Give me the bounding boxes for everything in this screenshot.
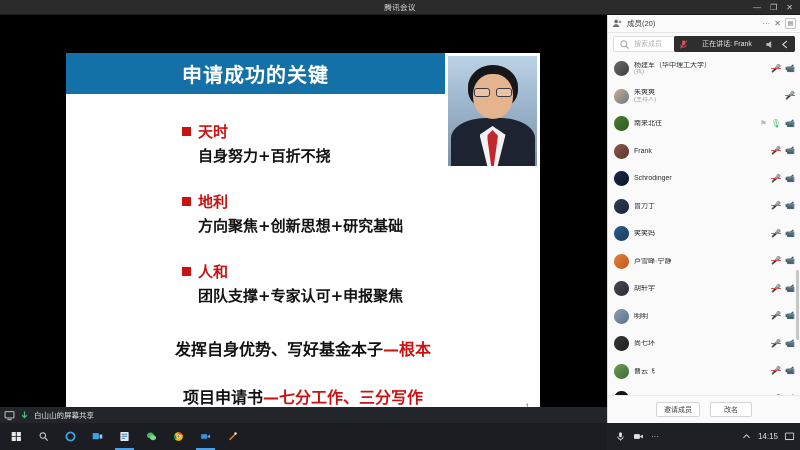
mic-muted-icon[interactable]: 🎤 xyxy=(771,65,781,73)
participant-name: 尚七环 xyxy=(634,340,766,347)
participant-status-icons: 🎤📹 xyxy=(771,312,795,320)
camera-off-icon[interactable]: 📹 xyxy=(785,257,795,265)
participants-count-label: 成员(20) xyxy=(627,18,655,29)
participant-row[interactable]: 曾力丁🎤📹 xyxy=(608,193,800,221)
maximize-button[interactable]: ❐ xyxy=(770,4,777,12)
camera-off-icon[interactable]: 📹 xyxy=(785,147,795,155)
window-title: 腾讯会议 xyxy=(384,2,416,13)
taskbar-clock[interactable]: 14:15 xyxy=(758,432,778,441)
bullet-key-1: 天时 xyxy=(198,121,228,142)
share-bar-label: 白山山的屏幕共享 xyxy=(34,410,94,421)
participant-status-icons: 🎤📹 xyxy=(771,175,795,183)
search-placeholder: 搜索成员 xyxy=(634,39,662,49)
cortana-button[interactable] xyxy=(57,423,84,450)
invite-members-button[interactable]: 邀请成员 xyxy=(656,402,700,417)
closing-2-black: 项目申请书 xyxy=(183,388,263,407)
avatar xyxy=(614,116,629,131)
participant-row[interactable]: 明明🎤📹 xyxy=(608,303,800,331)
title-bar: 腾讯会议 — ❐ ✕ xyxy=(0,0,800,15)
bullet-square-icon xyxy=(182,267,191,276)
avatar xyxy=(614,144,629,159)
wechat-button[interactable] xyxy=(138,423,165,450)
participant-name: 南来北往 xyxy=(634,120,755,127)
participant-name: 朱爽爽 xyxy=(634,89,780,96)
participant-status-icons: 🎤📹 xyxy=(771,367,795,375)
avatar xyxy=(614,61,629,76)
slide-bullet-2: 地利 方向聚焦+创新思想+研究基础 xyxy=(66,191,540,236)
participant-name-block: 朱爽爽(主持人) xyxy=(634,89,780,103)
participant-name-block: 芦雪峰·宁静 xyxy=(634,258,766,265)
bullet-square-icon xyxy=(182,127,191,136)
app-icon xyxy=(227,431,238,442)
participant-row[interactable]: 胡轩宇🎤📹 xyxy=(608,275,800,303)
wps-button[interactable] xyxy=(111,423,138,450)
participant-name-block: Frank xyxy=(634,148,766,155)
search-icon xyxy=(38,431,49,442)
participant-name: 曾力丁 xyxy=(634,203,766,210)
participant-name: 笑笑妈 xyxy=(634,230,766,237)
participant-row[interactable]: 尚七环🎤📹 xyxy=(608,330,800,358)
participants-panel-footer: 邀请成员 改名 xyxy=(608,395,800,423)
meeting-button[interactable] xyxy=(192,423,219,450)
avatar xyxy=(614,281,629,296)
participant-name-block: 笑笑妈 xyxy=(634,230,766,237)
meeting-icon xyxy=(200,431,211,442)
wps-icon xyxy=(119,431,130,442)
mic-muted-icon[interactable]: 🎤 xyxy=(771,312,781,320)
camera-off-icon[interactable]: 📹 xyxy=(785,367,795,375)
camera-off-icon[interactable]: 📹 xyxy=(785,175,795,183)
avatar xyxy=(614,254,629,269)
participants-panel-header: 成员(20) ··· ✕ ▤ xyxy=(608,15,800,33)
chrome-button[interactable] xyxy=(165,423,192,450)
camera-off-icon[interactable]: 📹 xyxy=(785,202,795,210)
screen-share-bar: 白山山的屏幕共享 xyxy=(0,407,607,423)
avatar xyxy=(614,89,629,104)
camera-off-icon[interactable]: 📹 xyxy=(785,340,795,348)
participants-scrollbar[interactable] xyxy=(796,270,799,340)
bullet-sub-3: 团队支撑+专家认可+申报聚焦 xyxy=(66,285,540,306)
participants-list[interactable]: 杨建军（华中理工大学）(我)🎤📹朱爽爽(主持人)🎤南来北往⚑🎙📹Frank🎤📹S… xyxy=(608,55,800,395)
avatar xyxy=(614,336,629,351)
participant-note: (我) xyxy=(634,69,766,75)
participant-name: 芦雪峰·宁静 xyxy=(634,258,766,265)
more-controls-button[interactable]: ··· xyxy=(651,432,659,441)
meeting-app-window: 腾讯会议 — ❐ ✕ 申请成功的关键 xyxy=(0,0,800,450)
avatar xyxy=(614,364,629,379)
pin-icon[interactable]: ⚑ xyxy=(760,120,767,128)
mic-muted-icon[interactable]: 🎤 xyxy=(785,92,795,100)
volume-icon xyxy=(765,39,776,50)
participant-name-block: 曹云飞 xyxy=(634,368,766,375)
search-area: 搜索成员 正在讲话: Frank xyxy=(608,33,800,55)
participant-status-icons: ⚑🎙📹 xyxy=(760,120,795,128)
bullet-sub-1: 自身努力+百折不挠 xyxy=(66,145,540,166)
task-view-icon xyxy=(92,431,103,442)
panel-close-button[interactable]: ✕ xyxy=(774,19,781,28)
participant-note: (主持人) xyxy=(634,97,780,103)
participant-name-block: Schrodinger xyxy=(634,175,766,182)
panel-more-button[interactable]: ··· xyxy=(762,19,770,28)
mic-on-icon[interactable]: 🎙 xyxy=(771,120,781,128)
participant-name: 胡轩宇 xyxy=(634,285,766,292)
panel-expand-button[interactable]: ▤ xyxy=(785,18,796,29)
participant-row[interactable]: 芦雪峰·宁静🎤📹 xyxy=(608,248,800,276)
monitor-icon xyxy=(4,410,15,421)
slide-title: 申请成功的关键 xyxy=(182,59,329,88)
participant-name-block: 杨建军（华中理工大学）(我) xyxy=(634,62,766,76)
participant-row[interactable]: Schrodinger🎤📹 xyxy=(608,165,800,193)
mic-muted-icon[interactable]: 🎤 xyxy=(771,202,781,210)
slide-title-band: 申请成功的关键 xyxy=(66,53,445,94)
avatar xyxy=(614,309,629,324)
notification-icon[interactable] xyxy=(784,431,795,442)
avatar xyxy=(614,226,629,241)
window-controls: — ❐ ✕ xyxy=(753,0,798,15)
slide-bullet-1: 天时 自身努力+百折不挠 xyxy=(66,121,540,166)
participants-panel: 成员(20) ··· ✕ ▤ 搜索成员 正在讲话: xyxy=(607,15,800,423)
bullet-sub-2: 方向聚焦+创新思想+研究基础 xyxy=(66,215,540,236)
mic-muted-icon[interactable]: 🎤 xyxy=(771,285,781,293)
camera-off-icon[interactable]: 📹 xyxy=(785,285,795,293)
participant-status-icons: 🎤📹 xyxy=(771,230,795,238)
close-button[interactable]: ✕ xyxy=(786,4,793,12)
participant-name: 曹云飞 xyxy=(634,368,766,375)
back-arrow-icon[interactable] xyxy=(780,39,791,50)
participant-row[interactable]: Frank🎤📹 xyxy=(608,138,800,166)
start-button[interactable] xyxy=(3,423,30,450)
minimize-button[interactable]: — xyxy=(753,4,761,12)
closing-2-red: —七分工作、三分写作 xyxy=(263,388,423,407)
participant-name: Frank xyxy=(634,148,766,155)
participant-name-block: 南来北往 xyxy=(634,120,755,127)
rename-button[interactable]: 改名 xyxy=(710,402,752,417)
mic-muted-icon[interactable]: 🎤 xyxy=(771,367,781,375)
circle-icon xyxy=(65,431,76,442)
slide-body: 天时 自身努力+百折不挠 地利 方向聚焦+创新思想+研究基础 人和 xyxy=(66,101,540,407)
participant-status-icons: 🎤 xyxy=(785,92,795,100)
participant-row[interactable]: 朱爽爽(主持人)🎤 xyxy=(608,83,800,111)
camera-off-icon[interactable]: 📹 xyxy=(785,312,795,320)
download-arrow-icon xyxy=(19,410,30,421)
camera-off-icon[interactable]: 📹 xyxy=(785,230,795,238)
chevron-up-icon[interactable] xyxy=(741,431,752,442)
bullet-key-3: 人和 xyxy=(198,261,228,282)
participant-row[interactable]: 曹云飞🎤📹 xyxy=(608,358,800,386)
slide-bullet-3: 人和 团队支撑+专家认可+申报聚焦 xyxy=(66,261,540,306)
mic-muted-icon[interactable]: 🎤 xyxy=(771,230,781,238)
participant-name-block: 尚七环 xyxy=(634,340,766,347)
participant-name-block: 胡轩宇 xyxy=(634,285,766,292)
speaking-now-label: 正在讲话: Frank xyxy=(702,39,752,49)
mic-muted-icon xyxy=(678,39,689,50)
participant-status-icons: 🎤📹 xyxy=(771,147,795,155)
mic-muted-icon[interactable]: 🎤 xyxy=(771,147,781,155)
speaking-now-banner: 正在讲话: Frank xyxy=(674,36,795,52)
participant-status-icons: 🎤📹 xyxy=(771,257,795,265)
participant-status-icons: 🎤📹 xyxy=(771,65,795,73)
closing-1-black: 发挥自身优势、写好基金本子 xyxy=(175,340,383,359)
participant-name-block: 曾力丁 xyxy=(634,203,766,210)
participant-status-icons: 🎤📹 xyxy=(771,340,795,348)
windows-taskbar xyxy=(0,423,607,450)
mic-icon[interactable] xyxy=(615,431,626,442)
participant-row[interactable]: 南来北往⚑🎙📹 xyxy=(608,110,800,138)
participant-row[interactable]: 笑笑妈🎤📹 xyxy=(608,220,800,248)
participant-row[interactable]: 杨建军（华中理工大学）(我)🎤📹 xyxy=(608,55,800,83)
participant-name: Schrodinger xyxy=(634,175,766,182)
search-button[interactable] xyxy=(30,423,57,450)
avatar xyxy=(614,199,629,214)
camera-off-icon[interactable]: 📹 xyxy=(785,65,795,73)
mic-muted-icon[interactable]: 🎤 xyxy=(771,175,781,183)
shared-screen-stage: 申请成功的关键 天时 自身努力+百折不挠 xyxy=(0,15,607,407)
participant-name-block: 明明 xyxy=(634,313,766,320)
system-tray: 14:15 xyxy=(741,423,800,450)
slide-closing-line-1: 发挥自身优势、写好基金本子—根本 xyxy=(66,336,540,360)
participant-name: 明明 xyxy=(634,313,766,320)
avatar xyxy=(614,171,629,186)
task-view-button[interactable] xyxy=(84,423,111,450)
slide-closing-line-2: 项目申请书—七分工作、三分写作 xyxy=(66,384,540,407)
participant-status-icons: 🎤📹 xyxy=(771,202,795,210)
camera-icon[interactable]: 📹 xyxy=(785,120,795,128)
participant-name: 杨建军（华中理工大学） xyxy=(634,62,766,69)
bullet-square-icon xyxy=(182,197,191,206)
mic-muted-icon[interactable]: 🎤 xyxy=(771,340,781,348)
wechat-icon xyxy=(146,431,157,442)
search-icon xyxy=(619,39,630,50)
closing-1-red: —根本 xyxy=(383,340,431,359)
people-icon xyxy=(612,18,623,29)
participant-status-icons: 🎤📹 xyxy=(771,285,795,293)
chrome-icon xyxy=(173,431,184,442)
app-button[interactable] xyxy=(219,423,246,450)
presentation-slide: 申请成功的关键 天时 自身努力+百折不挠 xyxy=(66,53,540,407)
windows-logo-icon xyxy=(11,431,22,442)
participant-row[interactable]: 刘国静🎤📹 xyxy=(608,385,800,395)
avatar xyxy=(614,391,629,395)
bullet-key-2: 地利 xyxy=(198,191,228,212)
camera-icon[interactable] xyxy=(633,431,644,442)
mic-muted-icon[interactable]: 🎤 xyxy=(771,257,781,265)
